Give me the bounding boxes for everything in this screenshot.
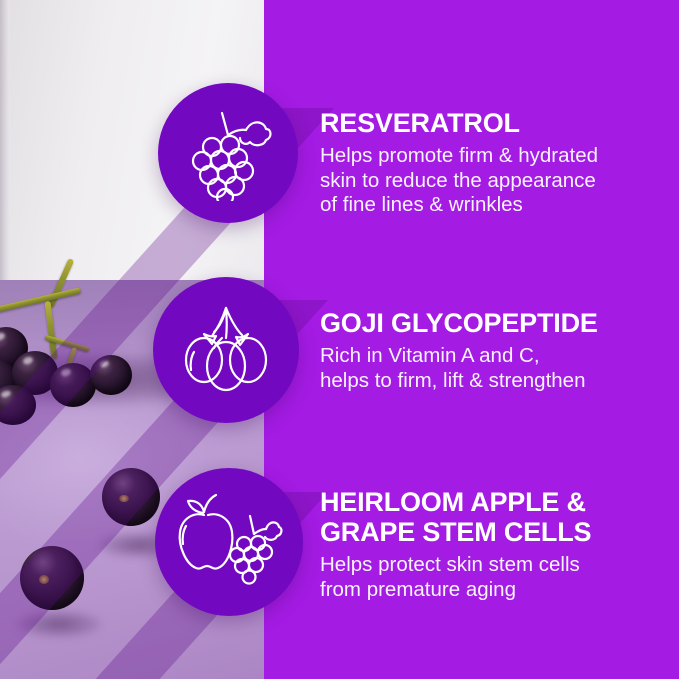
feature-text-resveratrol: RESVERATROL Helps promote firm & hydrate… <box>320 108 650 218</box>
feature-heading: HEIRLOOM APPLE & GRAPE STEM CELLS <box>320 487 660 547</box>
feature-text-stem-cells: HEIRLOOM APPLE & GRAPE STEM CELLS Helps … <box>320 487 660 603</box>
photo-backdrop-edge <box>0 0 10 286</box>
goji-berries-icon <box>178 304 274 396</box>
feature-body: Helps promote firm & hydrated skin to re… <box>320 144 650 218</box>
feature-text-goji: GOJI GLYCOPEPTIDE Rich in Vitamin A and … <box>320 308 650 393</box>
single-grape-upper <box>102 468 160 526</box>
single-grape-lower-shadow <box>16 610 102 638</box>
feature-icon-circle-apple-grapes <box>155 468 303 616</box>
apple-and-grapes-icon <box>174 492 284 592</box>
feature-heading: GOJI GLYCOPEPTIDE <box>320 308 650 338</box>
ingredient-benefits-infographic: RESVERATROL Helps promote firm & hydrate… <box>0 0 679 679</box>
grapes-icon <box>182 105 274 201</box>
single-grape-lower <box>20 546 84 610</box>
feature-body: Rich in Vitamin A and C, helps to firm, … <box>320 344 650 393</box>
feature-heading: RESVERATROL <box>320 108 650 138</box>
feature-icon-circle-grapes <box>158 83 298 223</box>
feature-icon-circle-goji <box>153 277 299 423</box>
grape-cluster <box>0 255 180 405</box>
feature-body: Helps protect skin stem cells from prema… <box>320 553 660 602</box>
